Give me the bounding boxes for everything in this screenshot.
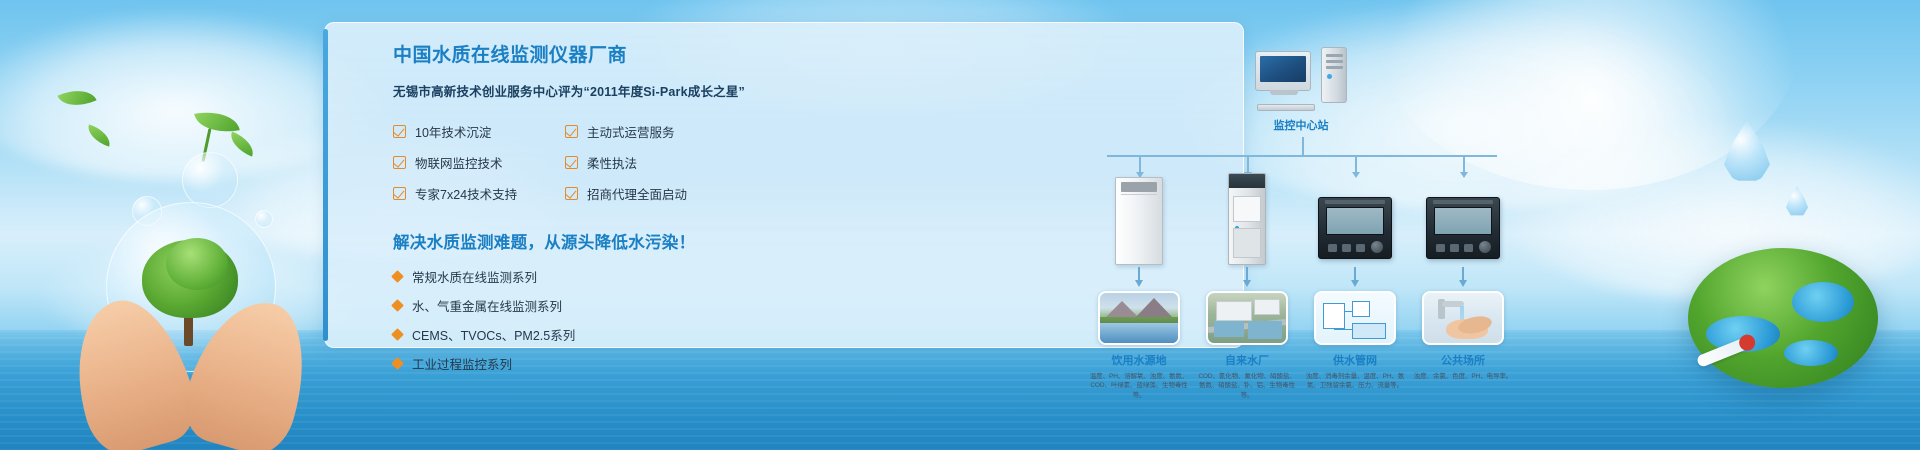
meter-lcd-screen	[1434, 207, 1492, 235]
building-shape	[1254, 299, 1280, 315]
tower-slot	[1326, 54, 1343, 57]
panel-meter-icon	[1426, 197, 1500, 259]
arrow-down-icon	[1354, 267, 1356, 281]
arrow-down-icon	[1138, 267, 1140, 281]
scene-water-supply-network: 供水管网 浊度、消毒剂余量、温度、PH、氨氮、卫残留余氯、压力、流量等。	[1301, 291, 1409, 391]
monitor-icon	[1255, 51, 1311, 91]
scene-thumbnail-pipe-schematic	[1314, 291, 1396, 345]
pc-tower-icon	[1321, 47, 1347, 103]
mountain-shape	[1134, 298, 1174, 319]
device-rack-analyzer	[1193, 169, 1301, 265]
panel-meter-icon	[1318, 197, 1392, 259]
meter-key	[1356, 244, 1365, 252]
meter-key	[1464, 244, 1473, 252]
meter-key	[1436, 244, 1445, 252]
scene-title: 供水管网	[1301, 352, 1409, 368]
meter-key	[1328, 244, 1337, 252]
meter-knob	[1479, 241, 1491, 253]
cabinet-seam	[1121, 194, 1157, 195]
device-panel-meter-1	[1301, 169, 1409, 265]
scene-parameters: 温度、PH、溶解氧、浊度、氨氮、COD、叶绿素、蓝绿藻、生物毒性等。	[1089, 372, 1189, 400]
schematic-line	[1345, 311, 1353, 312]
arrow-down-icon	[1462, 267, 1464, 281]
list-item-label: 常规水质在线监测系列	[412, 267, 537, 286]
white-cabinet-icon	[1115, 177, 1163, 265]
diamond-bullet-icon	[391, 357, 404, 370]
meter-keypad	[1328, 244, 1365, 252]
scene-title: 饮用水源地	[1085, 352, 1193, 368]
monitor-stand	[1270, 90, 1298, 95]
list-item: 常规水质在线监测系列	[393, 267, 793, 286]
checklist-item: 柔性执法	[565, 153, 793, 172]
checkbox-checked-icon	[565, 187, 578, 200]
schematic-box	[1323, 303, 1345, 329]
connector-stem	[1302, 137, 1304, 155]
meter-lcd-screen	[1326, 207, 1384, 235]
checkbox-checked-icon	[565, 125, 578, 138]
schematic-line	[1334, 329, 1352, 330]
checklist-item-label: 招商代理全面启动	[587, 184, 687, 203]
globe-sea-3	[1784, 340, 1838, 366]
cabinet-window	[1233, 196, 1261, 222]
checklist-item: 招商代理全面启动	[565, 184, 793, 203]
scene-thumbnail-river	[1098, 291, 1180, 345]
scene-thumbnail-tap	[1422, 291, 1504, 345]
diamond-bullet-icon	[391, 328, 404, 341]
scene-parameters: COD、氰化物、氟化物、硝酸盐、氨氮、硝酸盐、钋、铝、生物毒性等。	[1197, 372, 1297, 400]
grey-cabinet-icon	[1228, 173, 1266, 265]
checklist-item: 专家7x24技术支持	[393, 184, 565, 203]
checkbox-checked-icon	[393, 156, 406, 169]
scene-public-places: 公共场所 浊度、余氯、色度、PH、电导率。	[1409, 291, 1517, 381]
scene-title: 自来水厂	[1193, 352, 1301, 368]
application-scene-row: 饮用水源地 温度、PH、溶解氧、浊度、氨氮、COD、叶绿素、蓝绿藻、生物毒性等。…	[1085, 291, 1515, 381]
meter-keypad	[1436, 244, 1473, 252]
arrow-down-icon	[1246, 267, 1248, 281]
monitoring-center-node: 监控中心站	[1253, 51, 1349, 133]
list-item: 水、气重金属在线监测系列	[393, 296, 793, 315]
meter-knob	[1371, 241, 1383, 253]
cabinet-display	[1121, 182, 1157, 192]
scene-drinking-water-source: 饮用水源地 温度、PH、溶解氧、浊度、氨氮、COD、叶绿素、蓝绿藻、生物毒性等。	[1085, 291, 1193, 400]
content-panel: 中国水质在线监测仪器厂商 无锡市高新技术创业服务中心评为“2011年度Si-Pa…	[324, 22, 1244, 348]
bubble-3	[255, 210, 273, 228]
monitor-screen	[1260, 56, 1306, 82]
scene-parameters: 浊度、余氯、色度、PH、电导率。	[1413, 372, 1513, 381]
globe-sea-2	[1792, 282, 1854, 322]
tower-slot	[1326, 66, 1343, 69]
connector-bracket	[1107, 139, 1497, 173]
tower-slot	[1326, 60, 1343, 63]
meter-key	[1450, 244, 1459, 252]
meter-key	[1342, 244, 1351, 252]
product-series-list: 常规水质在线监测系列 水、气重金属在线监测系列 CEMS、TVOCs、PM2.5…	[393, 267, 793, 373]
checkbox-checked-icon	[565, 156, 578, 169]
checkbox-checked-icon	[393, 187, 406, 200]
treatment-tank-shape	[1248, 321, 1282, 339]
page-subtitle: 无锡市高新技术创业服务中心评为“2011年度Si-Park成长之星”	[393, 81, 793, 100]
keyboard-icon	[1257, 104, 1315, 111]
device-row	[1085, 169, 1515, 265]
scene-title: 公共场所	[1409, 352, 1517, 368]
computer-icon	[1255, 51, 1347, 105]
checklist-item-label: 柔性执法	[587, 153, 637, 172]
device-cabinet-analyzer	[1085, 169, 1193, 265]
hands-holding-tree-illustration	[70, 250, 310, 450]
section-heading: 解决水质监测难题，从源头降低水污染！	[393, 229, 793, 253]
list-item-label: 工业过程监控系列	[412, 354, 512, 373]
monitoring-center-label: 监控中心站	[1253, 117, 1349, 133]
tree-crown-top	[166, 238, 228, 290]
list-item: CEMS、TVOCs、PM2.5系列	[393, 325, 793, 344]
checklist-item: 10年技术沉淀	[393, 122, 565, 141]
schematic-box	[1352, 301, 1370, 317]
cabinet-header	[1229, 174, 1265, 188]
scene-water-plant: 自来水厂 COD、氰化物、氟化物、硝酸盐、氨氮、硝酸盐、钋、铝、生物毒性等。	[1193, 291, 1301, 400]
diamond-bullet-icon	[391, 270, 404, 283]
checklist-item: 主动式运营服务	[565, 122, 793, 141]
list-item-label: 水、气重金属在线监测系列	[412, 296, 562, 315]
feature-checklist: 10年技术沉淀 主动式运营服务 物联网监控技术 柔性执法 专家7x24技术支持 …	[393, 122, 793, 203]
checklist-item-label: 物联网监控技术	[415, 153, 503, 172]
river-band	[1100, 323, 1178, 343]
connector-horizontal	[1107, 155, 1497, 157]
building-shape	[1216, 301, 1252, 321]
list-item-label: CEMS、TVOCs、PM2.5系列	[412, 325, 575, 344]
checklist-item-label: 专家7x24技术支持	[415, 184, 517, 203]
checklist-item-label: 10年技术沉淀	[415, 122, 491, 141]
bubble-1	[182, 152, 238, 208]
page-title: 中国水质在线监测仪器厂商	[393, 45, 793, 68]
meter-brand-bar	[1325, 200, 1385, 204]
diamond-bullet-icon	[391, 299, 404, 312]
meter-brand-bar	[1433, 200, 1493, 204]
flow-arrows	[1085, 267, 1515, 289]
schematic-box	[1352, 323, 1386, 339]
scene-parameters: 浊度、消毒剂余量、温度、PH、氨氮、卫残留余氯、压力、流量等。	[1305, 372, 1405, 391]
green-globe-illustration	[1688, 248, 1878, 388]
scene-thumbnail-waterworks	[1206, 291, 1288, 345]
checklist-item-label: 主动式运营服务	[587, 122, 675, 141]
tower-power-led	[1327, 74, 1332, 79]
marketing-copy-column: 中国水质在线监测仪器厂商 无锡市高新技术创业服务中心评为“2011年度Si-Pa…	[393, 45, 793, 383]
list-item: 工业过程监控系列	[393, 354, 793, 373]
cabinet-lower-panel	[1233, 228, 1261, 258]
system-architecture-diagram: 监控中心站	[1085, 51, 1515, 371]
treatment-tank-shape	[1214, 321, 1244, 337]
checklist-item: 物联网监控技术	[393, 153, 565, 172]
device-panel-meter-2	[1409, 169, 1517, 265]
checkbox-checked-icon	[393, 125, 406, 138]
